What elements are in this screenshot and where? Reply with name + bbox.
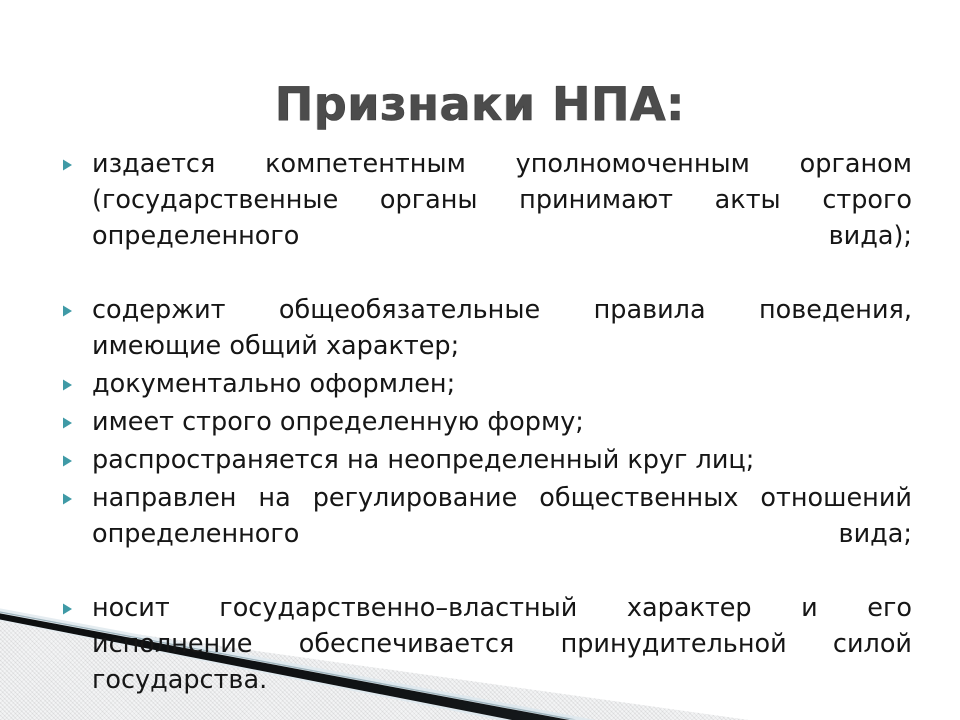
list-item: содержит общеобязательные правила поведе… [62, 292, 912, 364]
triangle-right-icon [62, 480, 92, 505]
list-item: документально оформлен; [62, 366, 912, 402]
list-item-text: распространяется на неопределенный круг … [92, 442, 912, 478]
slide-canvas: Признаки НПА: издается компетентным упол… [0, 0, 960, 720]
triangle-right-icon [62, 292, 92, 317]
triangle-right-icon [62, 404, 92, 429]
bullet-list: издается компетентным уполномоченным орг… [62, 146, 912, 720]
triangle-right-icon [62, 590, 92, 615]
page-title: Признаки НПА: [275, 79, 685, 131]
list-item: имеет строго определенную форму; [62, 404, 912, 440]
list-item-text: имеет строго определенную форму; [92, 404, 912, 440]
list-item-text: содержит общеобязательные правила поведе… [92, 292, 912, 364]
list-item: носит государственно–властный характер и… [62, 590, 912, 720]
list-item: распространяется на неопределенный круг … [62, 442, 912, 478]
list-item-text: направлен на регулирование общественных … [92, 480, 912, 588]
list-item-text: документально оформлен; [92, 366, 912, 402]
triangle-right-icon [62, 442, 92, 467]
triangle-right-icon [62, 146, 92, 171]
list-item: издается компетентным уполномоченным орг… [62, 146, 912, 290]
list-item-text: издается компетентным уполномоченным орг… [92, 146, 912, 290]
list-item: направлен на регулирование общественных … [62, 480, 912, 588]
triangle-right-icon [62, 366, 92, 391]
title-container: Признаки НПА: [0, 48, 960, 161]
list-item-text: носит государственно–властный характер и… [92, 590, 912, 720]
